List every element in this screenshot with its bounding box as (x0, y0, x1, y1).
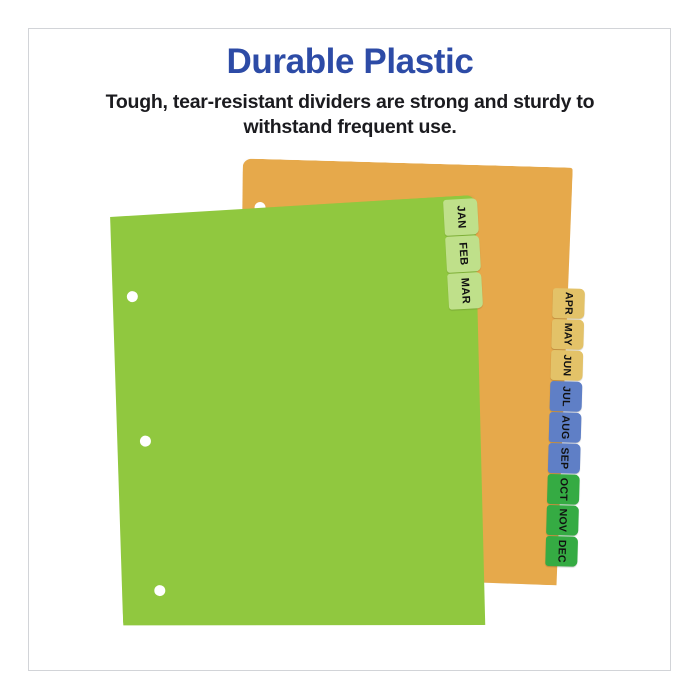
month-tab-jan[interactable]: JAN (443, 198, 479, 236)
month-tab-label: DEC (555, 540, 568, 563)
month-tab-label: JUL (560, 386, 573, 407)
month-tab-mar[interactable]: MAR (447, 272, 483, 310)
month-tab-feb[interactable]: FEB (445, 235, 481, 273)
product-photo: APRMAYJUNJULAUGSEPOCTNOVDEC JANFEBMAR (0, 0, 700, 700)
month-tab-jul[interactable]: JUL (550, 381, 583, 412)
month-tab-apr[interactable]: APR (552, 288, 585, 319)
month-tab-jun[interactable]: JUN (550, 350, 583, 381)
binder-hole (154, 585, 166, 597)
binder-hole (140, 435, 152, 447)
month-tab-label: APR (562, 292, 575, 315)
month-tab-dec[interactable]: DEC (545, 536, 578, 567)
month-tab-label: NOV (556, 508, 569, 532)
month-tab-label: AUG (559, 415, 572, 440)
product-image-card: Durable Plastic Tough, tear-resistant di… (0, 0, 700, 700)
month-tab-label: MAR (458, 277, 471, 304)
month-tab-oct[interactable]: OCT (547, 474, 580, 505)
month-tab-label: SEP (558, 447, 571, 469)
month-tab-aug[interactable]: AUG (549, 412, 582, 443)
month-tab-sep[interactable]: SEP (548, 443, 581, 474)
month-tab-label: JAN (454, 205, 467, 229)
binder-hole (127, 291, 139, 303)
month-tab-may[interactable]: MAY (551, 319, 584, 350)
month-tab-label: JUN (561, 354, 574, 376)
month-tab-label: OCT (557, 478, 570, 501)
front-sheet-tab-stack: JANFEBMAR (443, 198, 485, 311)
month-tab-label: FEB (456, 242, 469, 266)
back-sheet-tab-stack: APRMAYJUNJULAUGSEPOCTNOVDEC (545, 288, 587, 568)
month-tab-nov[interactable]: NOV (546, 505, 579, 536)
month-tab-label: MAY (561, 323, 574, 347)
green-divider-sheet (100, 195, 498, 645)
